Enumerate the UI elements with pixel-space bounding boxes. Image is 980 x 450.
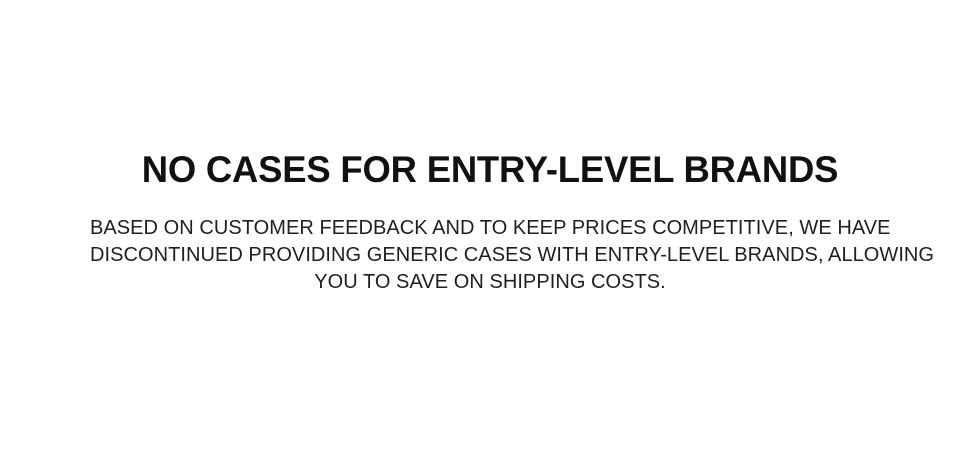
promo-description-line: BASED ON CUSTOMER FEEDBACK AND TO KEEP P… [90, 215, 890, 242]
promo-banner: NO CASES FOR ENTRY-LEVEL BRANDS BASED ON… [0, 0, 980, 450]
promo-description-line: YOU TO SAVE ON SHIPPING COSTS. [90, 269, 890, 296]
page-title: NO CASES FOR ENTRY-LEVEL BRANDS [47, 150, 934, 190]
promo-description: BASED ON CUSTOMER FEEDBACK AND TO KEEP P… [90, 215, 890, 296]
promo-description-line: DISCONTINUED PROVIDING GENERIC CASES WIT… [90, 242, 890, 269]
